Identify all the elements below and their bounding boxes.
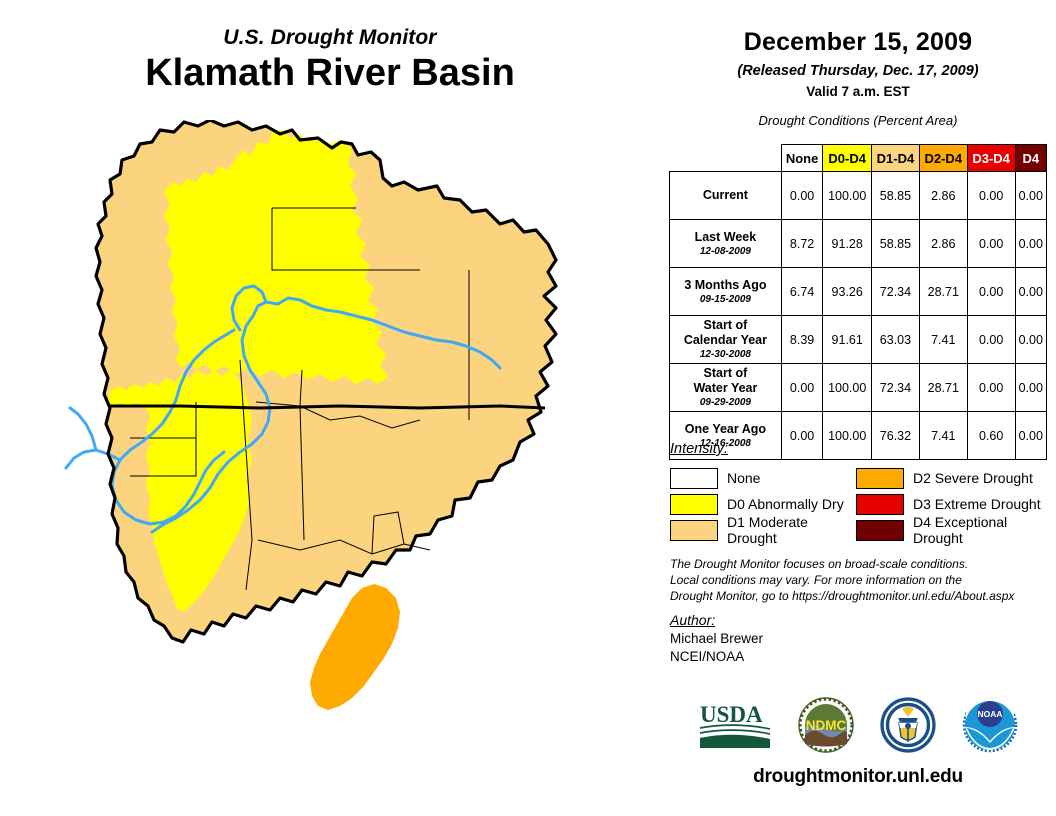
table-cell: 2.86: [919, 220, 967, 268]
column-header-d2: D2-D4: [919, 145, 967, 172]
legend-label: None: [727, 470, 760, 486]
row-label: Start ofWater Year09-29-2009: [670, 364, 782, 412]
legend-swatch: [856, 468, 904, 489]
valid-time: Valid 7 a.m. EST: [660, 84, 1056, 99]
row-label: 3 Months Ago09-15-2009: [670, 268, 782, 316]
legend-grid: NoneD2 Severe DroughtD0 Abnormally DryD3…: [670, 465, 1042, 543]
table-header: None D0-D4 D1-D4 D2-D4 D3-D4 D4: [670, 145, 1047, 172]
row-label: Current: [670, 172, 782, 220]
row-label: Start ofCalendar Year12-30-2008: [670, 316, 782, 364]
release-date: (Released Thursday, Dec. 17, 2009): [660, 63, 1056, 79]
drought-map[interactable]: [0, 120, 660, 816]
usda-logo: USDA: [698, 700, 772, 755]
disclaimer-note: The Drought Monitor focuses on broad-sca…: [670, 556, 1050, 605]
legend-swatch: [670, 520, 718, 541]
table-cell: 28.71: [919, 364, 967, 412]
row-label-date: 09-15-2009: [673, 294, 778, 306]
legend-label: D1 Moderate Drought: [727, 514, 856, 546]
svg-text:NDMC: NDMC: [806, 718, 847, 733]
author-label: Author:: [670, 612, 763, 628]
table-cell: 2.86: [919, 172, 967, 220]
table-cell: 58.85: [872, 172, 920, 220]
legend-label: D4 Exceptional Drought: [913, 514, 1042, 546]
table-cell: 8.72: [781, 220, 823, 268]
legend-item: None: [670, 468, 856, 489]
drought-conditions-table: None D0-D4 D1-D4 D2-D4 D3-D4 D4 Current0…: [669, 144, 1047, 460]
table-row: Start ofCalendar Year12-30-20088.3991.61…: [670, 316, 1047, 364]
noaa-logo: NOAA: [962, 697, 1018, 758]
report-date: December 15, 2009: [660, 28, 1056, 57]
map-panel: U.S. Drought Monitor Klamath River Basin: [0, 0, 660, 816]
intensity-legend: Intensity: NoneD2 Severe DroughtD0 Abnor…: [670, 441, 1042, 543]
legend-swatch: [670, 494, 718, 515]
legend-item: D3 Extreme Drought: [856, 494, 1042, 515]
column-header-d4: D4: [1015, 145, 1046, 172]
legend-item: D1 Moderate Drought: [670, 514, 856, 546]
info-panel: December 15, 2009 (Released Thursday, De…: [660, 0, 1056, 816]
table-corner-cell: [670, 145, 782, 172]
table-cell: 63.03: [872, 316, 920, 364]
intensity-legend-title: Intensity:: [670, 441, 1042, 457]
legend-item: D2 Severe Drought: [856, 468, 1042, 489]
table-cell: 6.74: [781, 268, 823, 316]
table-cell: 0.00: [1015, 364, 1046, 412]
legend-swatch: [856, 520, 904, 541]
table-cell: 28.71: [919, 268, 967, 316]
table-cell: 0.00: [967, 364, 1015, 412]
svg-text:USDA: USDA: [700, 702, 763, 727]
column-header-d0: D0-D4: [823, 145, 872, 172]
table-cell: 0.00: [967, 316, 1015, 364]
table-row: Last Week12-08-20098.7291.2858.852.860.0…: [670, 220, 1047, 268]
table-cell: 72.34: [872, 268, 920, 316]
table-cell: 0.00: [967, 268, 1015, 316]
legend-swatch: [856, 494, 904, 515]
table-cell: 8.39: [781, 316, 823, 364]
ndmc-logo: NDMC: [798, 697, 854, 758]
table-cell: 0.00: [1015, 220, 1046, 268]
table-cell: 0.00: [781, 364, 823, 412]
column-header-none: None: [781, 145, 823, 172]
row-label-date: 12-30-2008: [673, 349, 778, 361]
row-label-date: 12-08-2009: [673, 246, 778, 258]
map-supertitle: U.S. Drought Monitor: [0, 26, 660, 50]
table-cell: 7.41: [919, 316, 967, 364]
table-cell: 0.00: [1015, 268, 1046, 316]
table-cell: 0.00: [967, 220, 1015, 268]
row-label-date: 09-29-2009: [673, 397, 778, 409]
table-cell: 58.85: [872, 220, 920, 268]
legend-label: D3 Extreme Drought: [913, 496, 1041, 512]
table-row: 3 Months Ago09-15-20096.7493.2672.3428.7…: [670, 268, 1047, 316]
map-title-block: U.S. Drought Monitor Klamath River Basin: [0, 26, 660, 94]
legend-swatch: [670, 468, 718, 489]
table-cell: 100.00: [823, 364, 872, 412]
table-cell: 0.00: [967, 172, 1015, 220]
table-caption: Drought Conditions (Percent Area): [660, 113, 1056, 128]
table-cell: 72.34: [872, 364, 920, 412]
table-cell: 0.00: [1015, 316, 1046, 364]
table-cell: 93.26: [823, 268, 872, 316]
table-cell: 0.00: [781, 172, 823, 220]
site-url[interactable]: droughtmonitor.unl.edu: [660, 766, 1056, 788]
table-cell: 100.00: [823, 172, 872, 220]
table-row: Current0.00100.0058.852.860.000.00: [670, 172, 1047, 220]
table-body: Current0.00100.0058.852.860.000.00Last W…: [670, 172, 1047, 460]
logo-row: USDA NDMC: [660, 692, 1056, 762]
map-region-d2-south: [310, 584, 400, 710]
column-header-d1: D1-D4: [872, 145, 920, 172]
author-name: Michael Brewer: [670, 631, 763, 646]
date-block: December 15, 2009 (Released Thursday, De…: [660, 0, 1056, 99]
row-label: Last Week12-08-2009: [670, 220, 782, 268]
legend-label: D0 Abnormally Dry: [727, 496, 844, 512]
author-affiliation: NCEI/NOAA: [670, 649, 763, 664]
page-title: Klamath River Basin: [0, 54, 660, 94]
author-block: Author: Michael Brewer NCEI/NOAA: [670, 612, 763, 664]
table-row: Start ofWater Year09-29-20090.00100.0072…: [670, 364, 1047, 412]
commerce-seal-logo: [880, 697, 936, 758]
legend-item: D0 Abnormally Dry: [670, 494, 856, 515]
legend-label: D2 Severe Drought: [913, 470, 1033, 486]
svg-text:NOAA: NOAA: [977, 709, 1002, 719]
column-header-d3: D3-D4: [967, 145, 1015, 172]
table-cell: 91.61: [823, 316, 872, 364]
legend-item: D4 Exceptional Drought: [856, 514, 1042, 546]
table-cell: 0.00: [1015, 172, 1046, 220]
table-cell: 91.28: [823, 220, 872, 268]
